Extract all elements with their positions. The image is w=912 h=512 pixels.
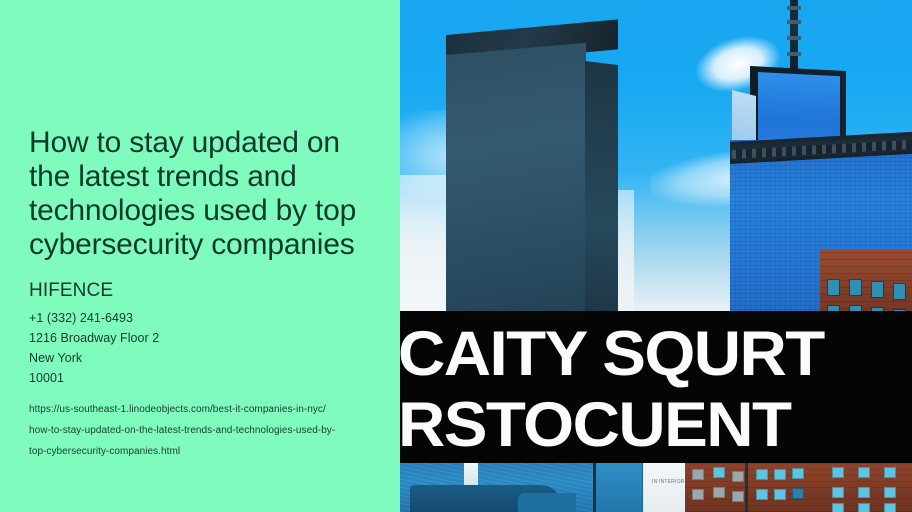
window [792,488,804,499]
url-line-2: how-to-stay-updated-on-the-latest-trends… [29,420,379,441]
contact-city: New York [29,348,381,368]
streetscape-strip: IN INTERIOR DESIGN [400,463,912,512]
url-line-1: https://us-southeast-1.linodeobjects.com… [29,399,379,420]
window [884,503,896,512]
contact-street: 1216 Broadway Floor 2 [29,328,381,348]
source-url[interactable]: https://us-southeast-1.linodeobjects.com… [29,388,379,462]
window [756,469,768,480]
haze-column [618,190,634,330]
window [832,503,844,512]
window [732,491,744,502]
page-root: How to stay updated on the latest trends… [0,0,912,512]
window [792,468,804,479]
antenna-ring [787,20,801,24]
tower-side [585,61,618,333]
window [850,280,861,295]
headline-line-2: RSTOCUENT [400,394,912,457]
antenna-ring [787,36,801,40]
panel-divider [745,463,748,512]
window [756,489,768,500]
window [692,489,704,500]
window [884,487,896,498]
headline-band: CAITY SQURT RSTOCUENT [400,311,912,463]
contact-phone: +1 (332) 241-6493 [29,308,381,328]
contact-zip: 10001 [29,368,381,388]
haze-column [400,175,452,330]
window [732,471,744,482]
dark-skyscraper [446,35,618,320]
company-name: HIFENCE [29,262,381,302]
window [858,503,870,512]
window [828,280,839,295]
contact-details: +1 (332) 241-6493 1216 Broadway Floor 2 … [29,302,381,388]
url-line-3: top-cybersecurity-companies.html [29,441,379,462]
antenna-ring [787,6,801,10]
window [872,282,883,297]
window [713,487,725,498]
content-block: How to stay updated on the latest trends… [29,126,381,462]
hero-photo: CAITY SQURT RSTOCUENT IN INTERIOR DESIGN [400,0,912,512]
window [713,467,725,478]
antenna-ring [787,52,801,56]
page-title: How to stay updated on the latest trends… [29,126,381,262]
window [884,467,896,478]
window [832,467,844,478]
tower-face [446,43,586,325]
info-panel: How to stay updated on the latest trends… [0,0,400,512]
window [692,469,704,480]
window [894,284,905,299]
foreground-shape [518,493,576,512]
window [774,469,786,480]
blue-block [596,463,642,512]
window [858,487,870,498]
window [858,467,870,478]
window [832,487,844,498]
window [774,489,786,500]
headline-line-1: CAITY SQURT [400,323,912,386]
